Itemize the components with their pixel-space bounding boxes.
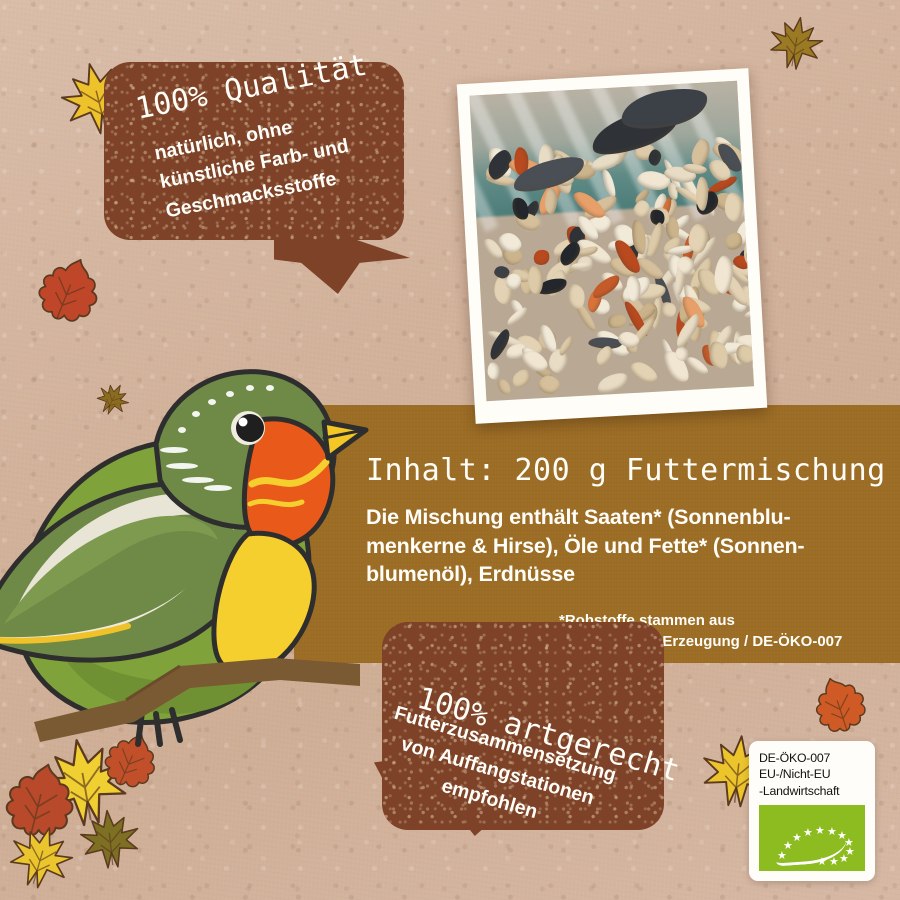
eu-organic-certification-label: DE-ÖKO-007 EU-/Nicht-EU -Landwirtschaft … [749, 741, 875, 881]
packaging-artwork-canvas: Inhalt: 200 g Futtermischung Die Mischun… [0, 0, 900, 900]
content-description-line-3: blumenöl), Erdnüsse [366, 562, 575, 586]
seed-particle [724, 192, 742, 222]
seed-particle [528, 265, 543, 295]
seed-particle [606, 311, 628, 331]
maple-leaf-olive-bottom [75, 805, 145, 873]
seed-particle [594, 370, 629, 397]
content-description-line-1: Die Mischung enthält Saaten* (Sonnenblu- [366, 505, 790, 529]
seed-particle [536, 373, 561, 396]
seed-mix-photo-image [469, 81, 754, 401]
speech-bubble-artgerecht-text: 100% artgerecht Futterzusammensetzung vo… [382, 622, 664, 830]
eu-star-1: ★ [777, 851, 787, 862]
seed-particle [627, 357, 660, 387]
eu-star-5: ★ [815, 826, 825, 837]
seed-particle [532, 248, 551, 266]
seed-particle [509, 366, 534, 390]
eu-organic-code-line-2: EU-/Nicht-EU [759, 766, 866, 782]
maple-leaf-brown-top-right [763, 10, 828, 77]
content-heading: Inhalt: 200 g Futtermischung [366, 453, 886, 488]
seed-particle [659, 301, 676, 318]
eu-star-10: ★ [839, 854, 849, 865]
eu-star-4: ★ [803, 828, 813, 839]
eu-star-3: ★ [792, 833, 802, 844]
oak-leaf-red-left [22, 245, 115, 337]
eu-organic-code-text: DE-ÖKO-007 EU-/Nicht-EU -Landwirtschaft [759, 750, 866, 799]
eu-star-11: ★ [829, 857, 839, 868]
eu-organic-leaf-logo: ★★★★★★★★★★★★ [759, 805, 865, 871]
content-description-line-2: menkerne & Hirse), Öle und Fette* (Sonne… [366, 534, 804, 558]
speech-bubble-quality: 100% Qualität natürlich, ohne künstliche… [104, 62, 404, 240]
oak-leaf-orange-bottom-right [800, 668, 878, 744]
eu-organic-code-line-1: DE-ÖKO-007 [759, 750, 866, 766]
seed-particle [495, 377, 512, 397]
eu-organic-code-line-3: -Landwirtschaft [759, 783, 866, 799]
tree-branch-perch [30, 630, 360, 760]
speech-bubble-artgerecht: 100% artgerecht Futterzusammensetzung vo… [382, 622, 664, 830]
eu-star-12: ★ [817, 857, 827, 868]
eu-star-6: ★ [827, 827, 837, 838]
speech-bubble-quality-text: 100% Qualität natürlich, ohne künstliche… [104, 62, 404, 240]
seed-mix-photo [457, 68, 768, 424]
seed-particle [488, 362, 500, 380]
content-description: Die Mischung enthält Saaten* (Sonnenblu-… [366, 503, 876, 589]
